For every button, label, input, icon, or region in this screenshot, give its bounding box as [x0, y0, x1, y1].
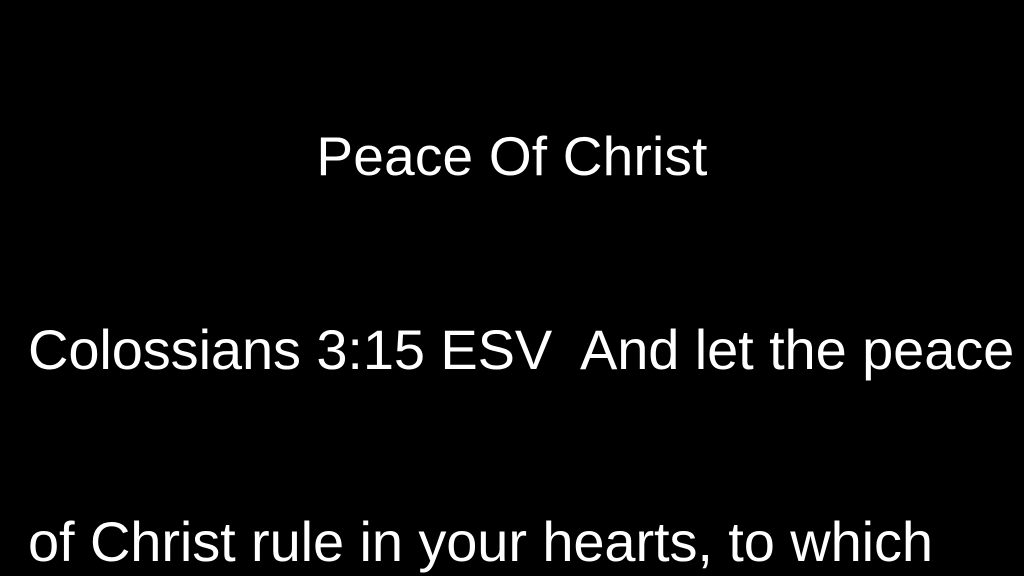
slide-content-area: Peace Of Christ Colossians 3:15 ESV And …	[0, 0, 1024, 576]
presentation-slide: Peace Of Christ Colossians 3:15 ESV And …	[0, 0, 1024, 576]
scripture-line: of Christ rule in your hearts, to which	[28, 510, 988, 574]
slide-title: Peace Of Christ	[0, 125, 1024, 187]
scripture-body-text: Colossians 3:15 ESV And let the peace of…	[28, 190, 988, 576]
scripture-line: Colossians 3:15 ESV And let the peace	[28, 318, 988, 382]
